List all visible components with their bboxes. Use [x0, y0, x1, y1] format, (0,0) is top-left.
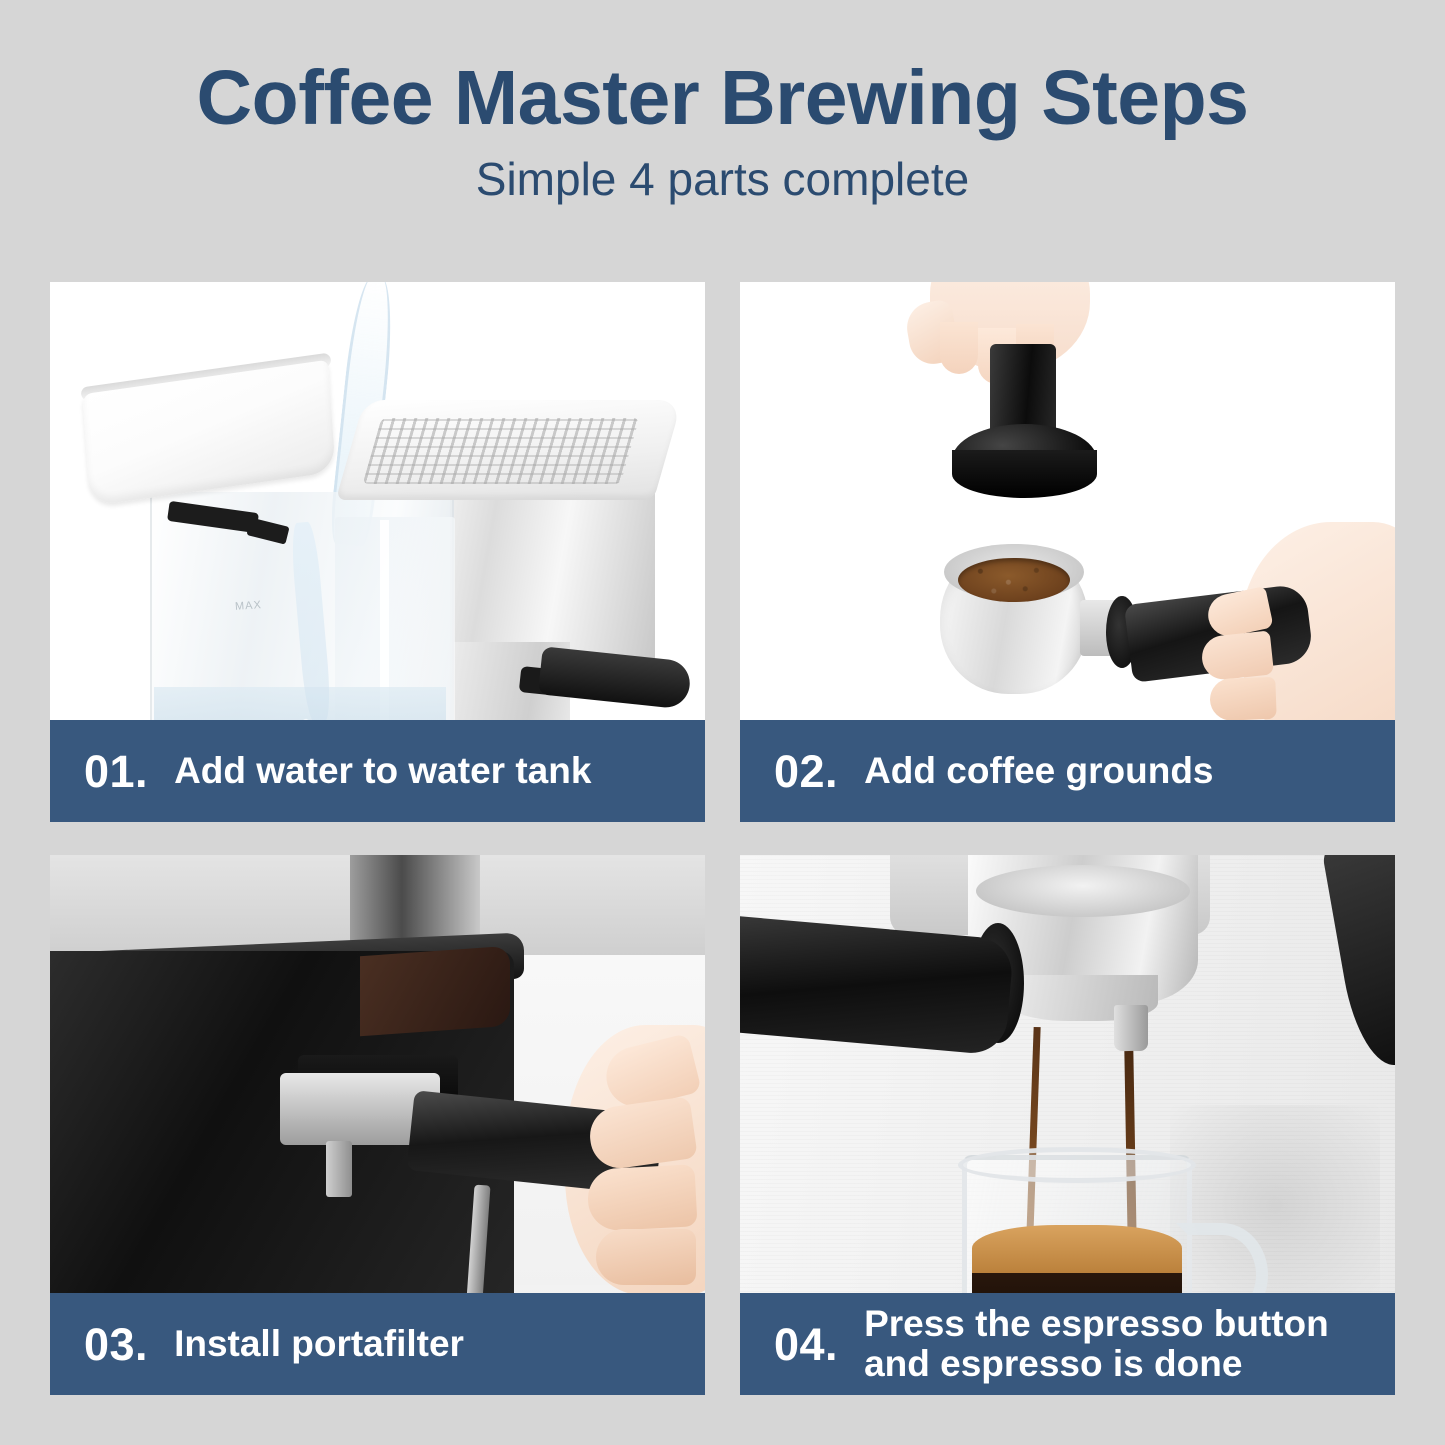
- tank-max-marking: MAX: [235, 599, 263, 613]
- water-bubbles: [154, 682, 446, 720]
- tamper-edge: [952, 450, 1097, 498]
- step-number: 03.: [84, 1322, 148, 1367]
- cup-warming-grate: [363, 418, 640, 484]
- finger: [1209, 677, 1276, 720]
- infographic-page: Coffee Master Brewing Steps Simple 4 par…: [0, 0, 1445, 1445]
- steps-grid: MAX 01. Add water to water tank: [50, 282, 1395, 1395]
- step-caption-1: 01. Add water to water tank: [50, 720, 705, 822]
- portafilter-rim: [976, 865, 1190, 917]
- header: Coffee Master Brewing Steps Simple 4 par…: [0, 58, 1445, 203]
- finger: [596, 1229, 696, 1285]
- step-label: Add coffee grounds: [864, 751, 1395, 791]
- step-photo-2: [740, 282, 1395, 720]
- step-photo-3: [50, 855, 705, 1293]
- step-caption-2: 02. Add coffee grounds: [740, 720, 1395, 822]
- step-label-line1: Press the espresso button: [864, 1303, 1329, 1344]
- finger: [586, 1164, 697, 1232]
- step-number: 01.: [84, 749, 148, 794]
- step-caption-3: 03. Install portafilter: [50, 1293, 705, 1395]
- step-caption-4: 04. Press the espresso buttonand espress…: [740, 1293, 1395, 1395]
- coffee-grounds-texture: [958, 558, 1070, 602]
- step-label: Add water to water tank: [174, 751, 705, 791]
- finger: [1200, 630, 1274, 681]
- machine-brown-accent: [360, 946, 510, 1036]
- portafilter-spout: [1114, 1005, 1148, 1051]
- finger: [940, 322, 978, 374]
- step-photo-1: MAX: [50, 282, 705, 720]
- step-card-2[interactable]: 02. Add coffee grounds: [740, 282, 1395, 822]
- step-number: 02.: [774, 749, 838, 794]
- step-label-line2: and espresso is done: [864, 1344, 1395, 1384]
- step-number: 04.: [774, 1322, 838, 1367]
- step-label: Install portafilter: [174, 1324, 705, 1364]
- portafilter-spout: [326, 1141, 352, 1197]
- step-label: Press the espresso buttonand espresso is…: [864, 1304, 1395, 1384]
- glass-cup-rim: [958, 1147, 1196, 1183]
- step-card-1[interactable]: MAX 01. Add water to water tank: [50, 282, 705, 822]
- page-title: Coffee Master Brewing Steps: [0, 58, 1445, 139]
- page-subtitle: Simple 4 parts complete: [0, 155, 1445, 203]
- step-card-3[interactable]: 03. Install portafilter: [50, 855, 705, 1395]
- step-photo-4: [740, 855, 1395, 1293]
- step-card-4[interactable]: 04. Press the espresso buttonand espress…: [740, 855, 1395, 1395]
- espresso-liquid: [972, 1273, 1182, 1293]
